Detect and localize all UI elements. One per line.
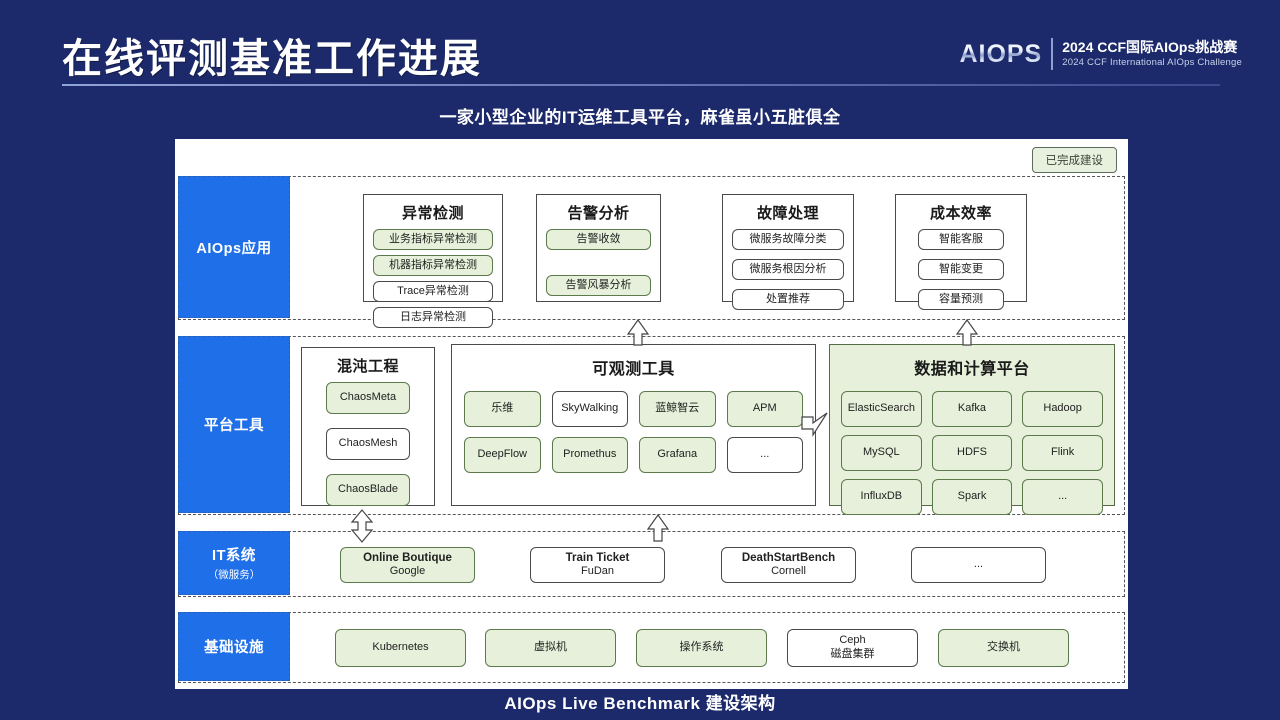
aiops-logo: AIOPS 2024 CCF国际AIOps挑战赛 2024 CCF Intern…	[959, 38, 1242, 70]
diagram-caption: AIOps Live Benchmark 建设架构	[0, 689, 1280, 714]
logo-separator	[1051, 38, 1053, 70]
arrow-updown-icon	[352, 510, 372, 542]
diagram-connectors	[175, 139, 1128, 689]
architecture-diagram: 已完成建设 AIOps应用 异常检测 业务指标异常检测 机器指标异常检测 Tra…	[175, 139, 1128, 689]
logo-title-en: 2024 CCF International AIOps Challenge	[1062, 56, 1242, 69]
title-divider	[62, 84, 1220, 86]
slide-subtitle: 一家小型企业的IT运维工具平台，麻雀虽小五脏俱全	[0, 103, 1280, 128]
slide-header: 在线评测基准工作进展 AIOPS 2024 CCF国际AIOps挑战赛 2024…	[0, 0, 1280, 92]
page-title: 在线评测基准工作进展	[62, 26, 482, 84]
aiops-wordmark-icon: AIOPS	[959, 40, 1042, 69]
logo-title-cn: 2024 CCF国际AIOps挑战赛	[1062, 39, 1242, 56]
arrow-up-icon	[648, 515, 668, 541]
arrow-up-icon	[628, 320, 648, 345]
arrow-up-icon	[957, 320, 977, 345]
arrow-right-icon	[802, 413, 827, 435]
